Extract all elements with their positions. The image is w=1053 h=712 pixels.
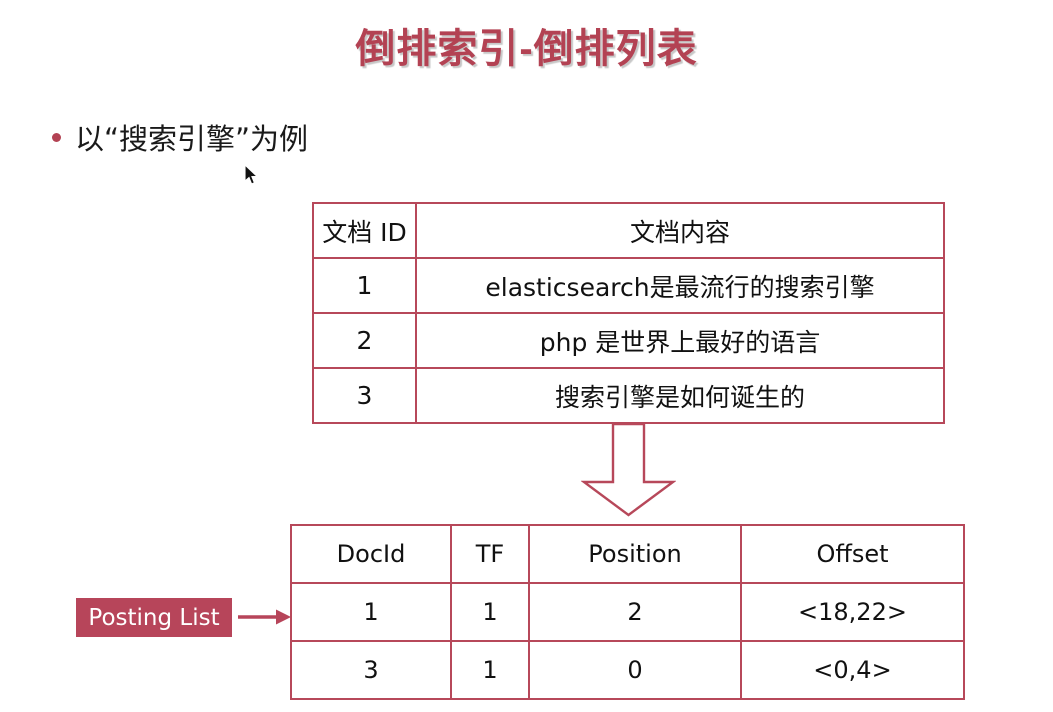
- bullet-text: 以“搜索引擎”为例: [75, 116, 308, 158]
- right-arrow-icon: [238, 606, 292, 628]
- doc-id-cell: 1: [313, 258, 416, 313]
- posting-list-table: DocId TF Position Offset 1 1 2 <18,22> 3…: [290, 524, 965, 700]
- table-header-row: DocId TF Position Offset: [291, 525, 964, 583]
- posting-docid-cell: 1: [291, 583, 451, 641]
- posting-header-position: Position: [529, 525, 741, 583]
- doc-table-header-content: 文档内容: [416, 203, 944, 258]
- posting-position-cell: 2: [529, 583, 741, 641]
- table-row: 3 1 0 <0,4>: [291, 641, 964, 699]
- bullet-dot-icon: [52, 133, 61, 142]
- posting-header-offset: Offset: [741, 525, 964, 583]
- posting-tf-cell: 1: [451, 583, 529, 641]
- posting-list-callout: Posting List: [76, 598, 232, 637]
- doc-content-cell: 搜索引擎是如何诞生的: [416, 368, 944, 423]
- doc-table-header-id: 文档 ID: [313, 203, 416, 258]
- documents-table: 文档 ID 文档内容 1 elasticsearch是最流行的搜索引擎 2 ph…: [312, 202, 945, 424]
- doc-content-cell: php 是世界上最好的语言: [416, 313, 944, 368]
- table-row: 1 elasticsearch是最流行的搜索引擎: [313, 258, 944, 313]
- posting-offset-cell: <18,22>: [741, 583, 964, 641]
- table-row: 1 1 2 <18,22>: [291, 583, 964, 641]
- page-title: 倒排索引-倒排列表: [0, 16, 1053, 74]
- doc-id-cell: 2: [313, 313, 416, 368]
- posting-docid-cell: 3: [291, 641, 451, 699]
- posting-header-docid: DocId: [291, 525, 451, 583]
- posting-tf-cell: 1: [451, 641, 529, 699]
- posting-position-cell: 0: [529, 641, 741, 699]
- table-row: 2 php 是世界上最好的语言: [313, 313, 944, 368]
- posting-header-tf: TF: [451, 525, 529, 583]
- table-header-row: 文档 ID 文档内容: [313, 203, 944, 258]
- down-block-arrow-icon: [581, 422, 676, 518]
- doc-content-cell: elasticsearch是最流行的搜索引擎: [416, 258, 944, 313]
- bullet-line: 以“搜索引擎”为例: [52, 116, 308, 158]
- slide-canvas: 倒排索引-倒排列表 以“搜索引擎”为例 文档 ID 文档内容 1 elastic…: [0, 0, 1053, 712]
- mouse-cursor-icon: [244, 164, 260, 186]
- table-row: 3 搜索引擎是如何诞生的: [313, 368, 944, 423]
- doc-id-cell: 3: [313, 368, 416, 423]
- posting-offset-cell: <0,4>: [741, 641, 964, 699]
